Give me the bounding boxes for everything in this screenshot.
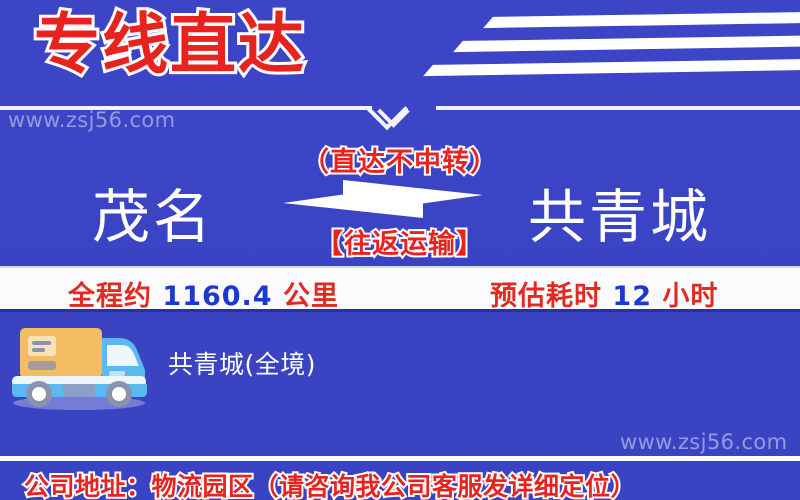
watermark-bottom: www.zsj56.com	[620, 430, 788, 454]
divider-line-right	[436, 106, 800, 110]
duration-unit-label: 小时	[662, 281, 718, 312]
delivery-truck-icon	[6, 318, 156, 410]
coverage-area-label: 共青城(全境)	[168, 345, 316, 381]
roundtrip-service-badge: 【往返运输】	[0, 222, 800, 261]
logistics-route-poster: 专线直达 www.zsj56.com www.zsj56.com 茂名 共青城 …	[0, 0, 800, 500]
duration-info: 预估耗时 12 小时	[490, 274, 718, 313]
duration-value: 12	[612, 281, 652, 312]
footer-address-text: 公司地址：物流园区（请咨询我公司客服发详细定位）	[24, 467, 636, 500]
poster-headline: 专线直达	[34, 4, 306, 87]
distance-unit-label: 公里	[283, 281, 339, 312]
distance-value: 1160.4	[162, 281, 272, 312]
distance-info: 全程约 1160.4 公里	[68, 274, 339, 313]
distance-prefix-label: 全程约	[68, 281, 152, 312]
footer-bar: 公司地址：物流园区（请咨询我公司客服发详细定位）	[0, 456, 800, 500]
watermark-top: www.zsj56.com	[8, 108, 176, 132]
info-band: 全程约 1160.4 公里 预估耗时 12 小时	[0, 266, 800, 312]
duration-prefix-label: 预估耗时	[490, 281, 602, 312]
direct-service-badge: （直达不中转）	[0, 140, 800, 179]
bidirectional-arrow-icon	[283, 178, 483, 220]
